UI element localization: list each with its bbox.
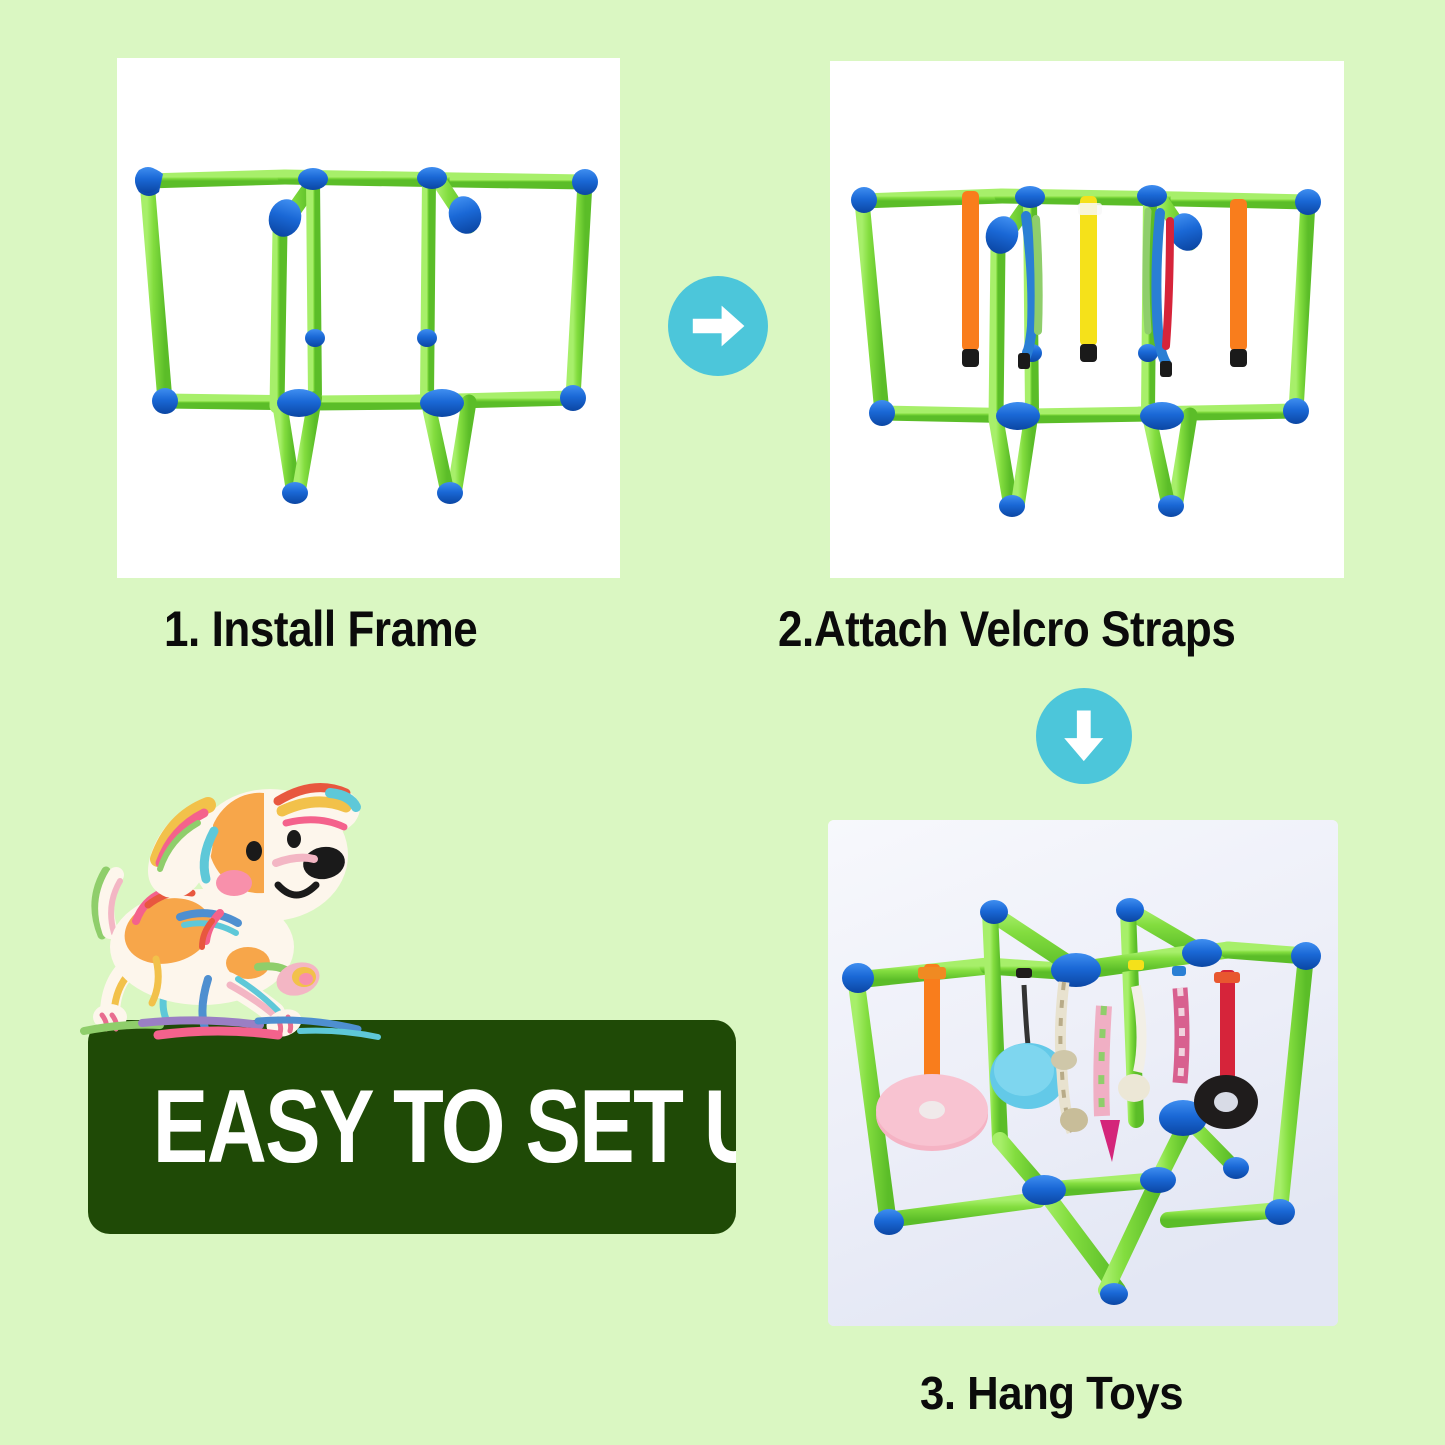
step-2-caption: 2.Attach Velcro Straps (778, 600, 1235, 658)
banner-label: EASY TO SET UP (153, 1075, 671, 1179)
step-3-caption: 3. Hang Toys (920, 1366, 1183, 1420)
arrow-down-icon (1036, 688, 1132, 784)
step-1-caption: 1. Install Frame (164, 600, 477, 658)
step-1-photo (117, 58, 620, 578)
step-2-photo (830, 61, 1344, 578)
infographic-canvas: 1. Install Frame 2.Attach Velcro Straps … (0, 0, 1445, 1445)
step-3-photo (828, 820, 1338, 1326)
running-puppy-illustration (62, 735, 392, 1055)
arrow-right-icon (668, 276, 768, 376)
